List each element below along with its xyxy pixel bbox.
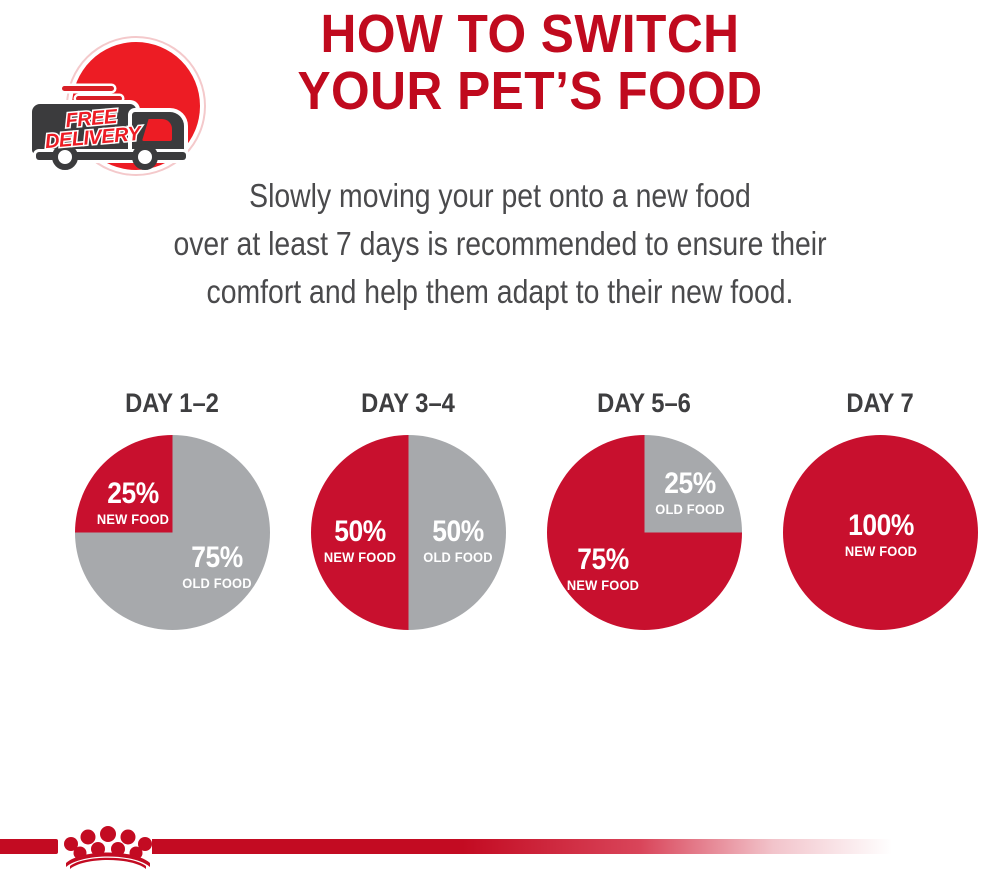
intro-paragraph: Slowly moving your pet onto a new food o… — [96, 172, 904, 316]
footer — [0, 813, 1000, 875]
pie-slice-percent: 25% — [90, 479, 174, 509]
page-title-line-1: HOW TO SWITCH — [245, 6, 815, 63]
pie-slice-percent: 50% — [318, 517, 401, 547]
intro-line-1: Slowly moving your pet onto a new food — [96, 172, 904, 220]
pie-graphic: 25% OLD FOOD 75% NEW FOOD — [547, 435, 742, 630]
pie-graphic: 100% NEW FOOD — [783, 435, 978, 630]
pie-slice-series: OLD FOOD — [414, 550, 500, 564]
pie-graphic: 25% NEW FOOD 75% OLD FOOD — [75, 435, 270, 630]
pie-slice-percent: 75% — [560, 545, 644, 575]
pie-slice-series: NEW FOOD — [316, 550, 402, 564]
pie-slice-label-new-food: 50% NEW FOOD — [313, 517, 407, 564]
free-delivery-badge: FREE DELIVERY — [14, 32, 204, 172]
pie-chart-day-5-6: DAY 5–6 25% OLD FOOD 75% NEW FOOD — [524, 388, 764, 630]
pie-slice-label-new-food: 25% NEW FOOD — [85, 479, 181, 526]
intro-line-2: over at least 7 days is recommended to e… — [96, 220, 904, 268]
page-title-line-2: YOUR PET’S FOOD — [245, 63, 815, 120]
speed-line-icon — [62, 86, 114, 91]
page-title: HOW TO SWITCH YOUR PET’S FOOD — [245, 6, 815, 119]
pie-slice-label-new-food: 100% NEW FOOD — [831, 511, 931, 558]
pie-slice-series: OLD FOOD — [648, 502, 731, 516]
intro-line-3: comfort and help them adapt to their new… — [96, 268, 904, 316]
footer-bar-right — [152, 839, 892, 854]
crown-icon — [60, 825, 156, 869]
pie-slice-label-old-food: 25% OLD FOOD — [645, 469, 735, 516]
footer-bar-left — [0, 839, 58, 854]
pie-day-label: DAY 5–6 — [538, 388, 749, 419]
pie-chart-day-1-2: DAY 1–2 25% NEW FOOD 75% OLD FOOD — [52, 388, 292, 630]
pie-slice-series: OLD FOOD — [172, 576, 260, 590]
pie-slice-series: NEW FOOD — [835, 544, 927, 558]
pie-slice-series: NEW FOOD — [88, 512, 176, 526]
pie-day-label: DAY 3–4 — [302, 388, 513, 419]
truck-wheel — [132, 144, 158, 170]
pie-slice-percent: 75% — [174, 543, 258, 573]
pie-chart-day-7: DAY 7 100% NEW FOOD — [760, 388, 1000, 630]
pie-slice-percent: 50% — [416, 517, 499, 547]
pie-graphic: 50% NEW FOOD 50% OLD FOOD — [311, 435, 506, 630]
pie-slice-series: NEW FOOD — [558, 578, 646, 592]
pie-chart-day-3-4: DAY 3–4 50% NEW FOOD 50% OLD FOOD — [288, 388, 528, 630]
pie-slice-percent: 25% — [650, 469, 729, 499]
pie-slice-label-new-food: 75% NEW FOOD — [555, 545, 651, 592]
pie-day-label: DAY 7 — [774, 388, 985, 419]
royal-canin-crown-logo — [60, 825, 156, 869]
speed-line-icon — [76, 96, 122, 101]
pie-chart-row: DAY 1–2 25% NEW FOOD 75% OLD FOOD DAY 3–… — [0, 388, 1000, 663]
pie-day-label: DAY 1–2 — [66, 388, 277, 419]
pie-slice-label-old-food: 50% OLD FOOD — [411, 517, 505, 564]
pie-slice-label-old-food: 75% OLD FOOD — [169, 543, 265, 590]
pie-slice-percent: 100% — [837, 511, 925, 541]
